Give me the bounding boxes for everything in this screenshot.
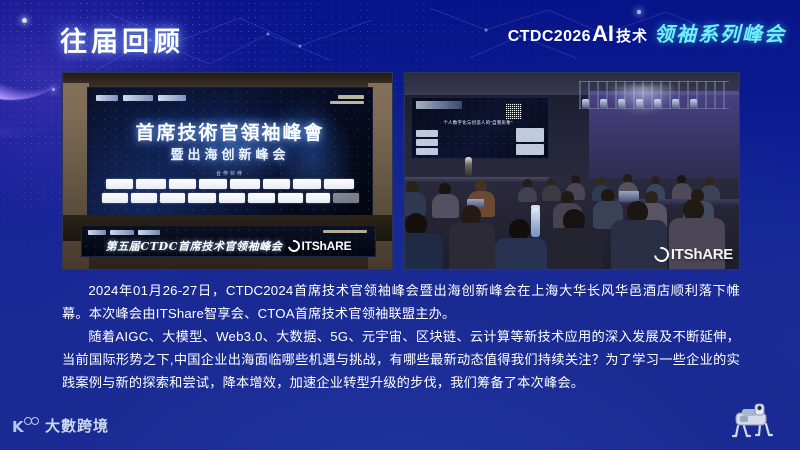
event-logo-tech: 技术 xyxy=(616,25,648,46)
led-partners-label: 合作伙伴 xyxy=(88,170,372,177)
screen-title-text: 个人数字化与创造人的"自我形象" xyxy=(442,120,514,127)
screen-card xyxy=(516,128,544,142)
partner-logo-row-1 xyxy=(98,179,362,189)
water-bottle xyxy=(531,209,540,237)
led-main-title: 首席技術官領袖峰會 xyxy=(88,118,372,145)
spark-dot xyxy=(52,88,55,91)
event-logo-ctdc: CTDC2026 xyxy=(508,28,591,46)
audience-body xyxy=(405,233,443,269)
event-logo-ai: AI xyxy=(592,21,614,47)
led-sponsor-logos-top xyxy=(96,95,186,101)
light-beam xyxy=(589,85,679,145)
screen-card xyxy=(416,130,438,137)
event-logo-script: 领袖系列峰会 xyxy=(654,18,786,47)
podium-main-line: 第五届CTDC首席技术官领袖峰会 ITShARE xyxy=(82,238,375,254)
stage-lamp xyxy=(582,99,589,108)
presentation-screen: 个人数字化与创造人的"自我形象" xyxy=(411,97,549,159)
led-subtitle: 暨出海创新峰会 xyxy=(88,144,372,163)
audience-background: 个人数字化与创造人的"自我形象" xyxy=(405,73,739,269)
qr-code-icon xyxy=(506,103,522,119)
audience-head xyxy=(509,219,530,240)
spark-dot xyxy=(637,10,641,14)
stage-lamp xyxy=(690,99,697,108)
slide-root: 往届回顾 CTDC2026 AI 技术 领袖系列峰会 xyxy=(0,0,800,450)
robot-dog-icon xyxy=(722,396,778,438)
podium-corner-note xyxy=(323,230,367,233)
body-copy: 2024年01月26-27日，CTDC2024首席技术官领袖峰会暨出海创新峰会在… xyxy=(62,280,740,396)
brand-footer: K 大數跨境 xyxy=(12,415,109,436)
photo-gallery: 首席技術官領袖峰會 暨出海创新峰会 合作伙伴 xyxy=(62,72,740,268)
audience-body xyxy=(495,238,547,269)
audience-head xyxy=(405,213,427,235)
partner-logo-row-2 xyxy=(98,193,362,203)
audience-body xyxy=(432,194,459,218)
itshare-ring-icon xyxy=(286,238,303,255)
audience-photo: 个人数字化与创造人的"自我形象" xyxy=(404,72,740,270)
brand-name: 大數跨境 xyxy=(45,415,109,436)
itshare-ring-icon xyxy=(651,244,672,265)
led-backdrop-screen: 首席技術官領袖峰會 暨出海创新峰会 合作伙伴 xyxy=(87,87,373,217)
screen-card xyxy=(416,148,438,155)
podium-title: 第五届CTDC首席技术官领袖峰会 xyxy=(106,238,283,254)
itshare-watermark-text: ITShARE xyxy=(671,246,733,263)
podium-banner: 第五届CTDC首席技术官领袖峰会 ITShARE xyxy=(81,225,376,257)
brand-dot-2 xyxy=(31,417,39,425)
screen-card xyxy=(416,139,438,146)
body-paragraph-2: 随着AIGC、大模型、Web3.0、大数据、5G、元宇宙、区块链、云计算等新技术… xyxy=(62,326,740,394)
screen-card xyxy=(516,144,544,155)
led-corner-note xyxy=(330,95,364,104)
audience-body xyxy=(449,223,495,269)
itshare-watermark: ITShARE xyxy=(654,246,733,263)
screen-header-logo xyxy=(416,101,462,109)
speaker-on-stage xyxy=(465,157,472,177)
brand-logo-icon: K xyxy=(12,417,38,434)
audience-body xyxy=(518,187,537,202)
page-title: 往届回顾 xyxy=(60,20,184,59)
audience-body xyxy=(547,228,603,269)
body-paragraph-1: 2024年01月26-27日，CTDC2024首席技术官领袖峰会暨出海创新峰会在… xyxy=(62,280,740,325)
itshare-logo-text: ITShARE xyxy=(301,239,351,253)
brand-k-glyph: K xyxy=(12,418,24,436)
event-logo: CTDC2026 AI 技术 领袖系列峰会 xyxy=(508,18,786,47)
audience-head xyxy=(461,205,481,225)
podium-sponsor-logos xyxy=(88,230,160,235)
stage-backdrop-photo: 首席技術官領袖峰會 暨出海创新峰会 合作伙伴 xyxy=(62,72,393,270)
audience-head xyxy=(627,201,648,222)
audience-body xyxy=(542,185,561,201)
itshare-logo: ITShARE xyxy=(288,239,351,253)
audience-head xyxy=(683,199,704,220)
spark-dot xyxy=(22,18,27,23)
